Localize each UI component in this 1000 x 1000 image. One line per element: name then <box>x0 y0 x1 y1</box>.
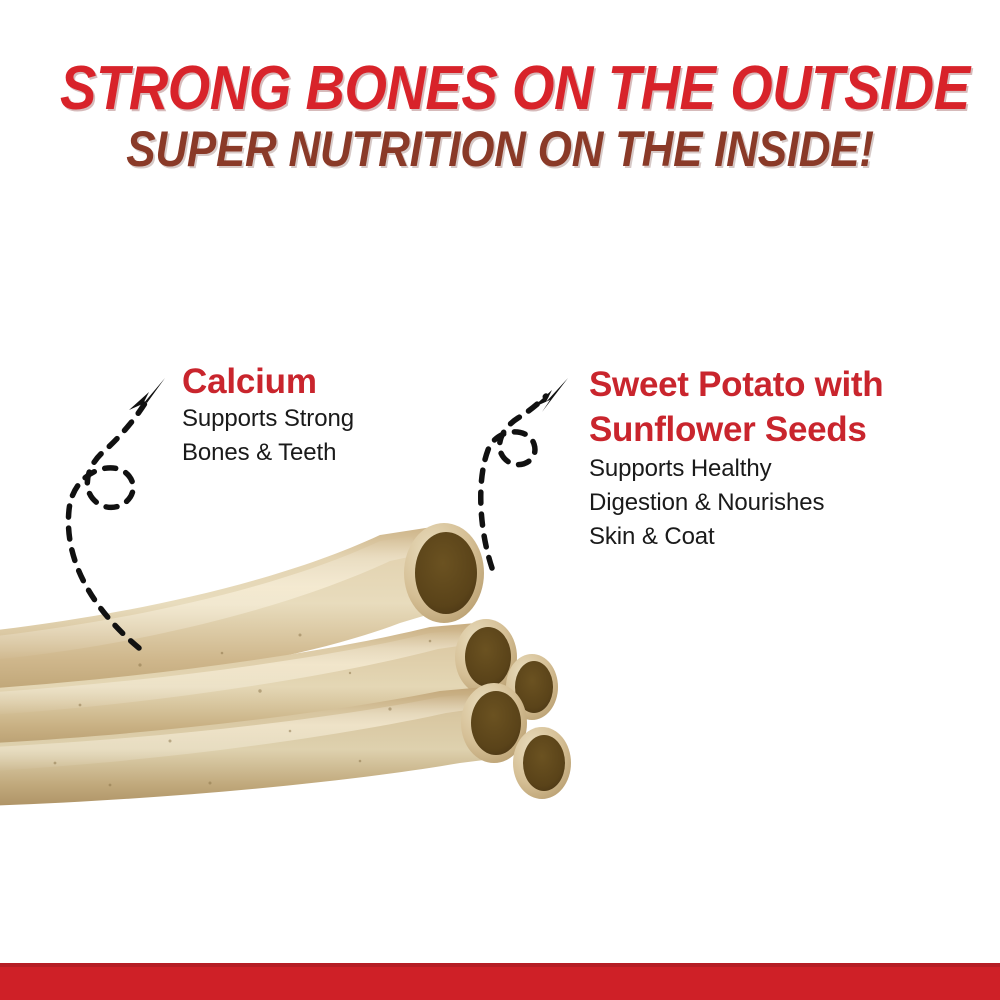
pointer-arrow-calcium <box>55 370 185 660</box>
headline-block: STRONG BONES ON THE OUTSIDE SUPER NUTRIT… <box>0 58 1000 174</box>
pointer-arrow-sweet-potato <box>462 372 582 587</box>
callout-sweet-potato-title-line-1: Sweet Potato with <box>589 362 959 407</box>
dashed-curve <box>481 396 546 568</box>
callout-sweet-potato: Sweet Potato with Sunflower Seeds Suppor… <box>589 362 959 554</box>
footer-bar <box>0 963 1000 1000</box>
callout-calcium: Calcium Supports Strong Bones & Teeth <box>182 362 442 470</box>
callout-sweet-potato-body-line-1: Supports Healthy <box>589 452 959 486</box>
footer-bar-top-edge <box>0 963 1000 967</box>
callout-calcium-title: Calcium <box>182 362 442 402</box>
callout-calcium-body-line-1: Supports Strong <box>182 402 442 436</box>
callout-calcium-body-line-2: Bones & Teeth <box>182 436 442 470</box>
callout-sweet-potato-body-line-3: Skin & Coat <box>589 520 959 554</box>
callout-sweet-potato-body-line-2: Digestion & Nourishes <box>589 486 959 520</box>
callout-sweet-potato-title-line-2: Sunflower Seeds <box>589 407 959 452</box>
dashed-curve <box>68 400 147 648</box>
headline-line-2: SUPER NUTRITION ON THE INSIDE! <box>60 124 940 174</box>
promo-graphic-canvas: STRONG BONES ON THE OUTSIDE SUPER NUTRIT… <box>0 0 1000 1000</box>
bone-tube-5 <box>513 727 571 799</box>
headline-line-1: STRONG BONES ON THE OUTSIDE <box>60 58 940 120</box>
arrow-head <box>129 378 165 414</box>
